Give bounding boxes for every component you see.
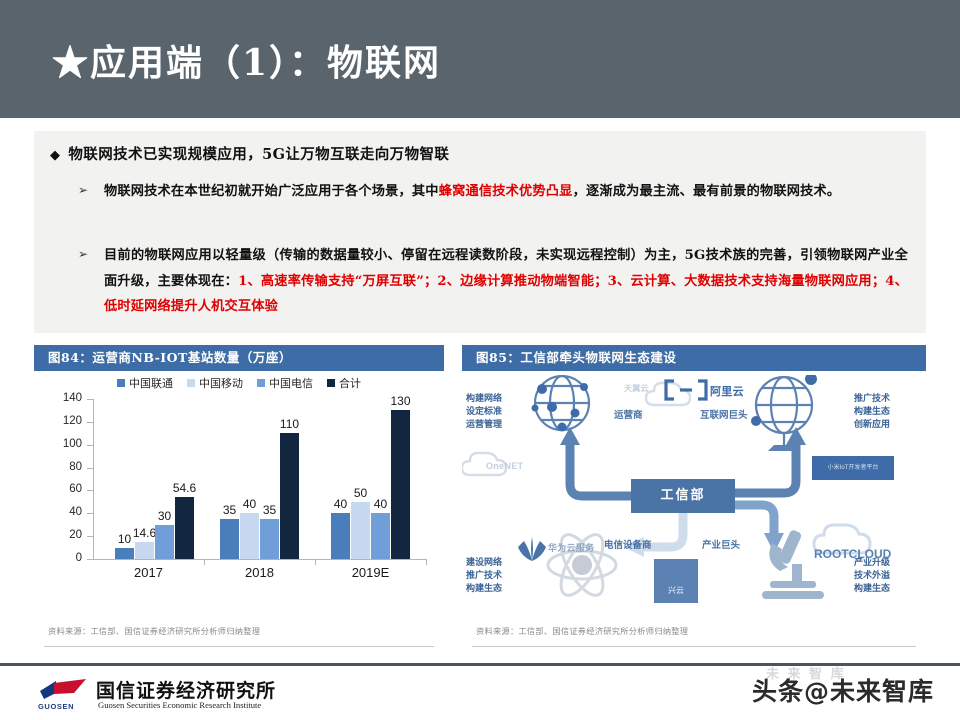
y-axis-tick	[87, 422, 93, 423]
legend-label: 中国联通	[129, 378, 173, 390]
paragraph-1-part-b: ，逐渐成为最主流、最有前景的物联网技术。	[573, 184, 841, 199]
logo-rootcloud: ROOTCLOUD	[814, 547, 891, 561]
logo-aliyun: 阿里云	[710, 383, 744, 399]
guosen-logo-wordmark: GUOSEN	[38, 702, 74, 711]
arrow-bullet-icon-1: ➢	[78, 179, 88, 202]
legend-item-2: 中国电信	[257, 375, 313, 391]
diagram-panel-title: 图85：工信部牵头物联网生态建设	[462, 345, 926, 371]
level1-bullet-line: ◆物联网技术已实现规模应用，5G让万物互联走向万物智联	[50, 143, 916, 164]
y-axis-tick	[87, 490, 93, 491]
legend-item-3: 合计	[327, 375, 361, 391]
bar-1-1	[240, 513, 259, 559]
bar-1-2	[260, 519, 279, 559]
panel-divider	[44, 646, 434, 647]
y-axis-tick-label: 40	[34, 506, 82, 518]
y-axis-tick-label: 100	[34, 438, 82, 450]
globe-network-icon	[535, 376, 589, 430]
caption-bottom-left: 建设网络推广技术构建生态	[466, 557, 502, 596]
company-logo: GUOSEN 国信证券经济研究所 Guosen Securities Econo…	[30, 676, 450, 716]
legend-swatch-icon	[327, 379, 335, 387]
y-axis-tick	[87, 468, 93, 469]
y-axis-tick-label: 60	[34, 483, 82, 495]
level2-paragraph-1: ➢物联网技术在本世纪初就开始广泛应用于各个场景，其中蜂窝通信技术优势凸显，逐渐成…	[104, 179, 908, 205]
logo-huawei-cloud: 华为云服务	[548, 541, 595, 554]
y-axis-tick	[87, 559, 93, 560]
x-axis-tick	[426, 559, 427, 565]
bar-chart: 中国联通中国移动中国电信合计 0204060801001201401014.63…	[34, 375, 444, 615]
chart-source-note: 资料来源：工信部、国信证券经济研究所分析师归纳整理	[48, 625, 260, 637]
y-axis-tick	[87, 399, 93, 400]
bar-value-label: 54.6	[162, 481, 208, 495]
diagram-panel: 图85：工信部牵头物联网生态建设	[462, 345, 926, 655]
x-axis-label: 2017	[94, 565, 204, 580]
globe-stand-icon	[756, 377, 812, 445]
legend-label: 中国移动	[199, 378, 243, 390]
legend-label: 合计	[339, 378, 361, 390]
role-industry-giant: 产业巨头	[702, 537, 740, 551]
legend-swatch-icon	[117, 379, 125, 387]
diamond-bullet-icon: ◆	[50, 148, 60, 163]
y-axis-tick-label: 20	[34, 529, 82, 541]
bar-1-0	[220, 519, 239, 559]
caption-bottom-right: 产业升级技术外溢构建生态	[854, 557, 890, 596]
guosen-logo-mark	[38, 677, 90, 701]
arrow-bullet-icon-2: ➢	[78, 243, 88, 266]
chart-legend: 中国联通中国移动中国电信合计	[34, 375, 444, 391]
bar-2-0	[331, 513, 350, 559]
watermark: 头条@未来智库	[752, 672, 934, 708]
role-telecom-vendor: 电信设备商	[604, 537, 652, 551]
paragraph-1-highlight: 蜂窝通信技术优势凸显	[439, 184, 573, 199]
role-internet-giant: 互联网巨头	[700, 407, 748, 421]
paragraph-1-part-a: 物联网技术在本世纪初就开始广泛应用于各个场景，其中	[104, 184, 439, 199]
y-axis-tick	[87, 445, 93, 446]
atom-nucleus	[572, 555, 592, 575]
ecosystem-diagram: 工信部 构建网络设定标准运营管理 推广技术构建生态创新应用 建设网络推广技术构建…	[462, 375, 926, 620]
bar-1-3	[280, 433, 299, 559]
bar-value-label: 130	[378, 394, 424, 408]
logo-xingyun: 兴云	[654, 559, 698, 603]
legend-label: 中国电信	[269, 378, 313, 390]
x-axis-line	[93, 559, 426, 560]
body-text-box: ◆物联网技术已实现规模应用，5G让万物互联走向万物智联 ➢物联网技术在本世纪初就…	[34, 131, 926, 333]
company-name-en: Guosen Securities Economic Research Inst…	[98, 700, 261, 710]
x-axis-label: 2019E	[316, 565, 426, 580]
company-name-cn: 国信证券经济研究所	[96, 676, 276, 703]
logo-xiaomi-iot: 小米IoT开发者平台	[812, 456, 894, 480]
y-axis-tick-label: 120	[34, 415, 82, 427]
y-axis-tick-label: 0	[34, 552, 82, 564]
bar-0-3	[175, 497, 194, 559]
y-axis-tick-label: 80	[34, 461, 82, 473]
y-axis-tick-label: 140	[34, 392, 82, 404]
diagram-source-note: 资料来源：工信部、国信证券经济研究所分析师归纳整理	[476, 625, 688, 637]
bar-2-2	[371, 513, 390, 559]
bar-2-3	[391, 410, 410, 559]
center-node-ministry: 工信部	[631, 479, 735, 513]
cloud-icon-tianyi	[646, 383, 690, 405]
level1-text: 物联网技术已实现规模应用，5G让万物互联走向万物智联	[68, 146, 449, 163]
logo-tianyiyun: 天翼云	[624, 383, 649, 394]
caption-top-right: 推广技术构建生态创新应用	[854, 393, 890, 432]
bar-0-2	[155, 525, 174, 559]
slide-header: ★应用端（1）：物联网	[0, 0, 960, 118]
y-axis-tick	[87, 513, 93, 514]
logo-onenet: OneNET	[486, 461, 523, 471]
panel-divider	[472, 646, 916, 647]
page-title: ★应用端（1）：物联网	[52, 34, 441, 86]
level2-paragraph-2: ➢目前的物联网应用以轻量级（传输的数据量较小、停留在远程读数阶段，未实现远程控制…	[104, 243, 908, 320]
bar-0-1	[135, 542, 154, 559]
bar-value-label: 110	[267, 417, 313, 431]
x-axis-label: 2018	[205, 565, 315, 580]
legend-swatch-icon	[187, 379, 195, 387]
chart-panel: 图84：运营商NB-IOT基站数量（万座） 中国联通中国移动中国电信合计 020…	[34, 345, 444, 655]
huawei-icon	[518, 537, 546, 561]
chart-panel-title: 图84：运营商NB-IOT基站数量（万座）	[34, 345, 444, 371]
y-axis-tick	[87, 536, 93, 537]
legend-item-1: 中国移动	[187, 375, 243, 391]
legend-item-0: 中国联通	[117, 375, 173, 391]
legend-swatch-icon	[257, 379, 265, 387]
caption-top-left: 构建网络设定标准运营管理	[466, 393, 502, 432]
bar-0-0	[115, 548, 134, 559]
role-operator: 运营商	[614, 407, 643, 421]
